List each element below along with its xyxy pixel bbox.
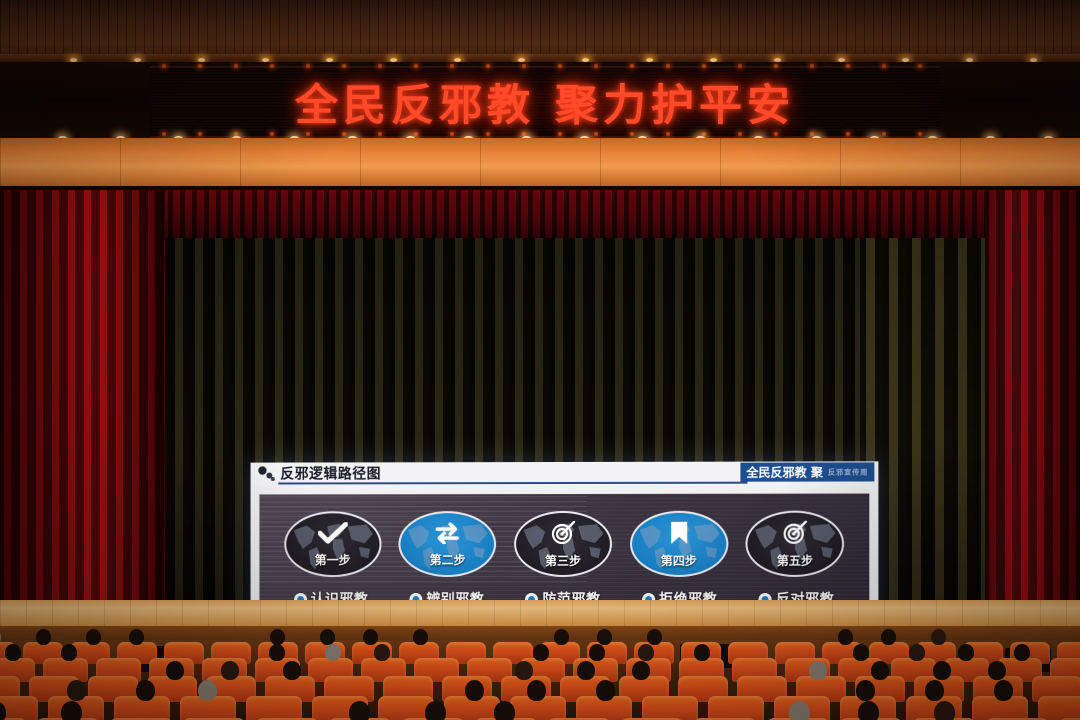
curtain-left-red <box>0 190 165 610</box>
audience-member <box>853 644 869 661</box>
audience-member <box>413 629 428 645</box>
audience-member <box>931 629 946 645</box>
seat <box>1038 696 1080 720</box>
step-badges-row: 第一步第二步第三步第四步第五步 <box>259 508 869 580</box>
audience-member <box>909 644 925 661</box>
audience-member <box>269 644 285 661</box>
audience-member <box>577 661 595 680</box>
audience-member <box>515 661 533 680</box>
step-badge-1: 第一步 <box>284 511 381 577</box>
check-icon <box>318 522 348 548</box>
target-icon <box>550 521 576 549</box>
audience-member <box>856 680 875 701</box>
audience-member <box>881 629 896 645</box>
step-badge-3: 第三步 <box>514 511 612 577</box>
ceiling <box>0 0 1080 62</box>
audience-member <box>527 680 546 701</box>
audience-member <box>934 701 955 720</box>
audience-member <box>465 680 484 701</box>
seat-row-4 <box>0 696 1080 720</box>
slide-badge: 全民反邪教 聚 反邪宣传周 <box>740 462 874 481</box>
audience-member <box>533 644 549 661</box>
audience-member <box>166 661 184 680</box>
audience-member <box>320 629 335 645</box>
step-badge-5: 第五步 <box>746 511 845 577</box>
slide-logo-icon <box>257 466 275 483</box>
target-icon <box>782 521 808 549</box>
audience-member <box>589 644 605 661</box>
audience-member <box>325 644 341 661</box>
curtain-right-red <box>985 190 1080 610</box>
seat <box>246 696 302 720</box>
slide-title-underline <box>278 482 747 485</box>
step-label: 第四步 <box>661 552 697 569</box>
audience-member <box>129 629 144 645</box>
audience-member <box>67 680 86 701</box>
audience-member <box>221 661 239 680</box>
stage-area: 反邪逻辑路径图 全民反邪教 聚 反邪宣传周 第一步第二步第三步第四步第五步 认识… <box>0 190 1080 610</box>
audience-member <box>789 701 810 720</box>
audience-member <box>61 644 77 661</box>
audience-seating <box>0 640 1080 720</box>
slide-title: 反邪逻辑路径图 <box>280 463 381 483</box>
audience-member <box>374 644 390 661</box>
step-label: 第三步 <box>545 552 581 569</box>
audience-member <box>933 661 951 680</box>
audience-member <box>925 680 944 701</box>
audience-member <box>809 661 827 680</box>
audience-member <box>988 661 1006 680</box>
audience-member <box>283 661 301 680</box>
audience-member <box>1014 644 1030 661</box>
audience-member <box>554 629 569 645</box>
back-curtain-dark-right <box>860 226 995 610</box>
wood-wall-band <box>0 138 1080 190</box>
audience-member <box>36 629 51 645</box>
audience-member <box>858 701 879 720</box>
audience-member <box>838 629 853 645</box>
seat <box>642 696 698 720</box>
banner-area: 全民反邪教 聚力护平安 <box>0 62 1080 138</box>
slide-badge-subtext: 反邪宣传周 <box>828 467 868 477</box>
audience-member <box>871 661 889 680</box>
slide-header: 反邪逻辑路径图 全民反邪教 聚 反邪宣传周 <box>251 461 879 486</box>
auditorium-scene: 全民反邪教 聚力护平安 反邪逻辑路径图 <box>0 0 1080 720</box>
slide-badge-text: 全民反邪教 聚 <box>746 463 823 480</box>
seat <box>0 696 38 720</box>
audience-member <box>994 680 1013 701</box>
step-label: 第二步 <box>430 551 466 568</box>
audience-member <box>694 644 710 661</box>
audience-member <box>363 629 378 645</box>
step-badge-4: 第四步 <box>630 511 728 577</box>
audience-member <box>958 644 974 661</box>
audience-member <box>5 644 21 661</box>
audience-member <box>638 644 654 661</box>
audience-member <box>86 629 101 645</box>
banner-text: 全民反邪教 聚力护平安 <box>295 71 795 133</box>
exchange-arrows-icon <box>434 522 462 548</box>
audience-member <box>647 629 662 645</box>
step-label: 第五步 <box>777 552 813 569</box>
audience-member <box>270 629 285 645</box>
audience-member <box>597 629 612 645</box>
audience-member <box>425 701 446 720</box>
audience-member <box>632 661 650 680</box>
audience-member <box>61 701 82 720</box>
audience-member <box>494 701 515 720</box>
audience-member <box>136 680 155 701</box>
step-badge-2: 第二步 <box>399 511 497 577</box>
step-label: 第一步 <box>315 551 351 568</box>
audience-member <box>198 680 217 701</box>
audience-member <box>349 701 370 720</box>
bookmark-icon <box>669 521 689 549</box>
seat <box>708 696 764 720</box>
audience-member <box>596 680 615 701</box>
